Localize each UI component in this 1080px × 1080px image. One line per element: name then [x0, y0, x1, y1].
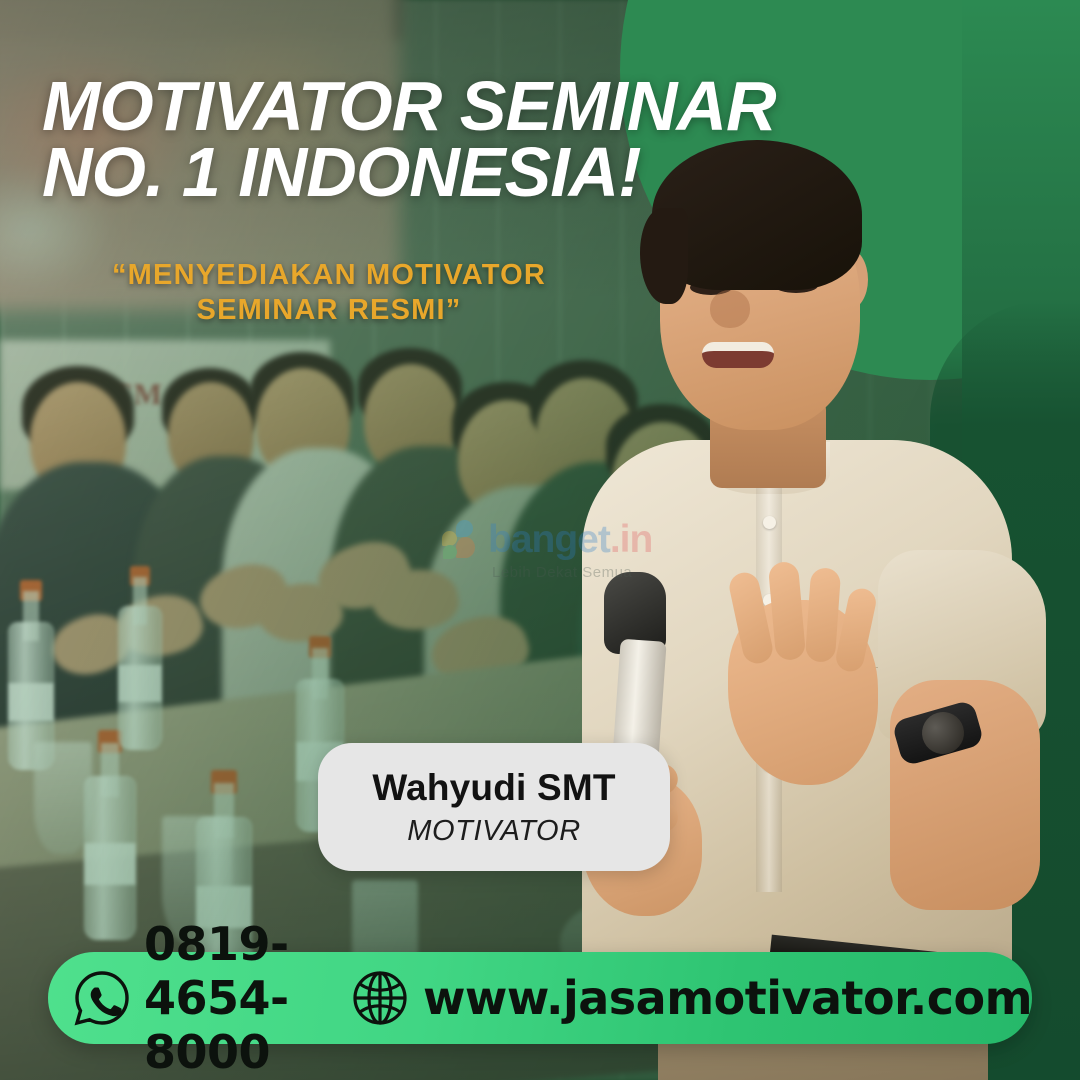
- contact-footer-bar: 0819-4654-8000 www.jasamotivator.com: [48, 952, 1032, 1044]
- speaker-role: MOTIVATOR: [407, 815, 581, 848]
- speaker-name: Wahyudi SMT: [372, 767, 615, 809]
- watermark-brand: banget.in: [488, 518, 652, 562]
- globe-icon: [351, 969, 409, 1027]
- subheadline-line-2: SEMINAR RESMI”: [197, 294, 462, 326]
- website-url: www.jasamotivator.com: [423, 971, 1032, 1025]
- watermark-logo-icon: [440, 520, 480, 560]
- watermark: banget.in Lebih Dekat Semua: [440, 518, 690, 581]
- website-contact[interactable]: www.jasamotivator.com: [351, 969, 1032, 1027]
- speaker-mouth: [702, 342, 774, 368]
- phone-contact[interactable]: 0819-4654-8000: [74, 917, 315, 1079]
- poster-subheadline: “MENYEDIAKAN MOTIVATOR SEMINAR RESMI”: [44, 258, 614, 328]
- poster-canvas: CTM: [0, 0, 1080, 1080]
- phone-number: 0819-4654-8000: [144, 917, 315, 1079]
- subheadline-line-1: “MENYEDIAKAN MOTIVATOR: [112, 259, 546, 291]
- poster-headline: MOTIVATOR SEMINAR NO. 1 INDONESIA!: [42, 74, 852, 206]
- watermark-tagline: Lebih Dekat Semua: [492, 564, 690, 581]
- speaker-hair-side: [640, 208, 688, 304]
- speaker-name-card: Wahyudi SMT MOTIVATOR: [318, 743, 670, 871]
- headline-line-2: NO. 1 INDONESIA!: [42, 140, 852, 206]
- speaker-nose: [710, 290, 750, 328]
- whatsapp-icon: [74, 970, 130, 1026]
